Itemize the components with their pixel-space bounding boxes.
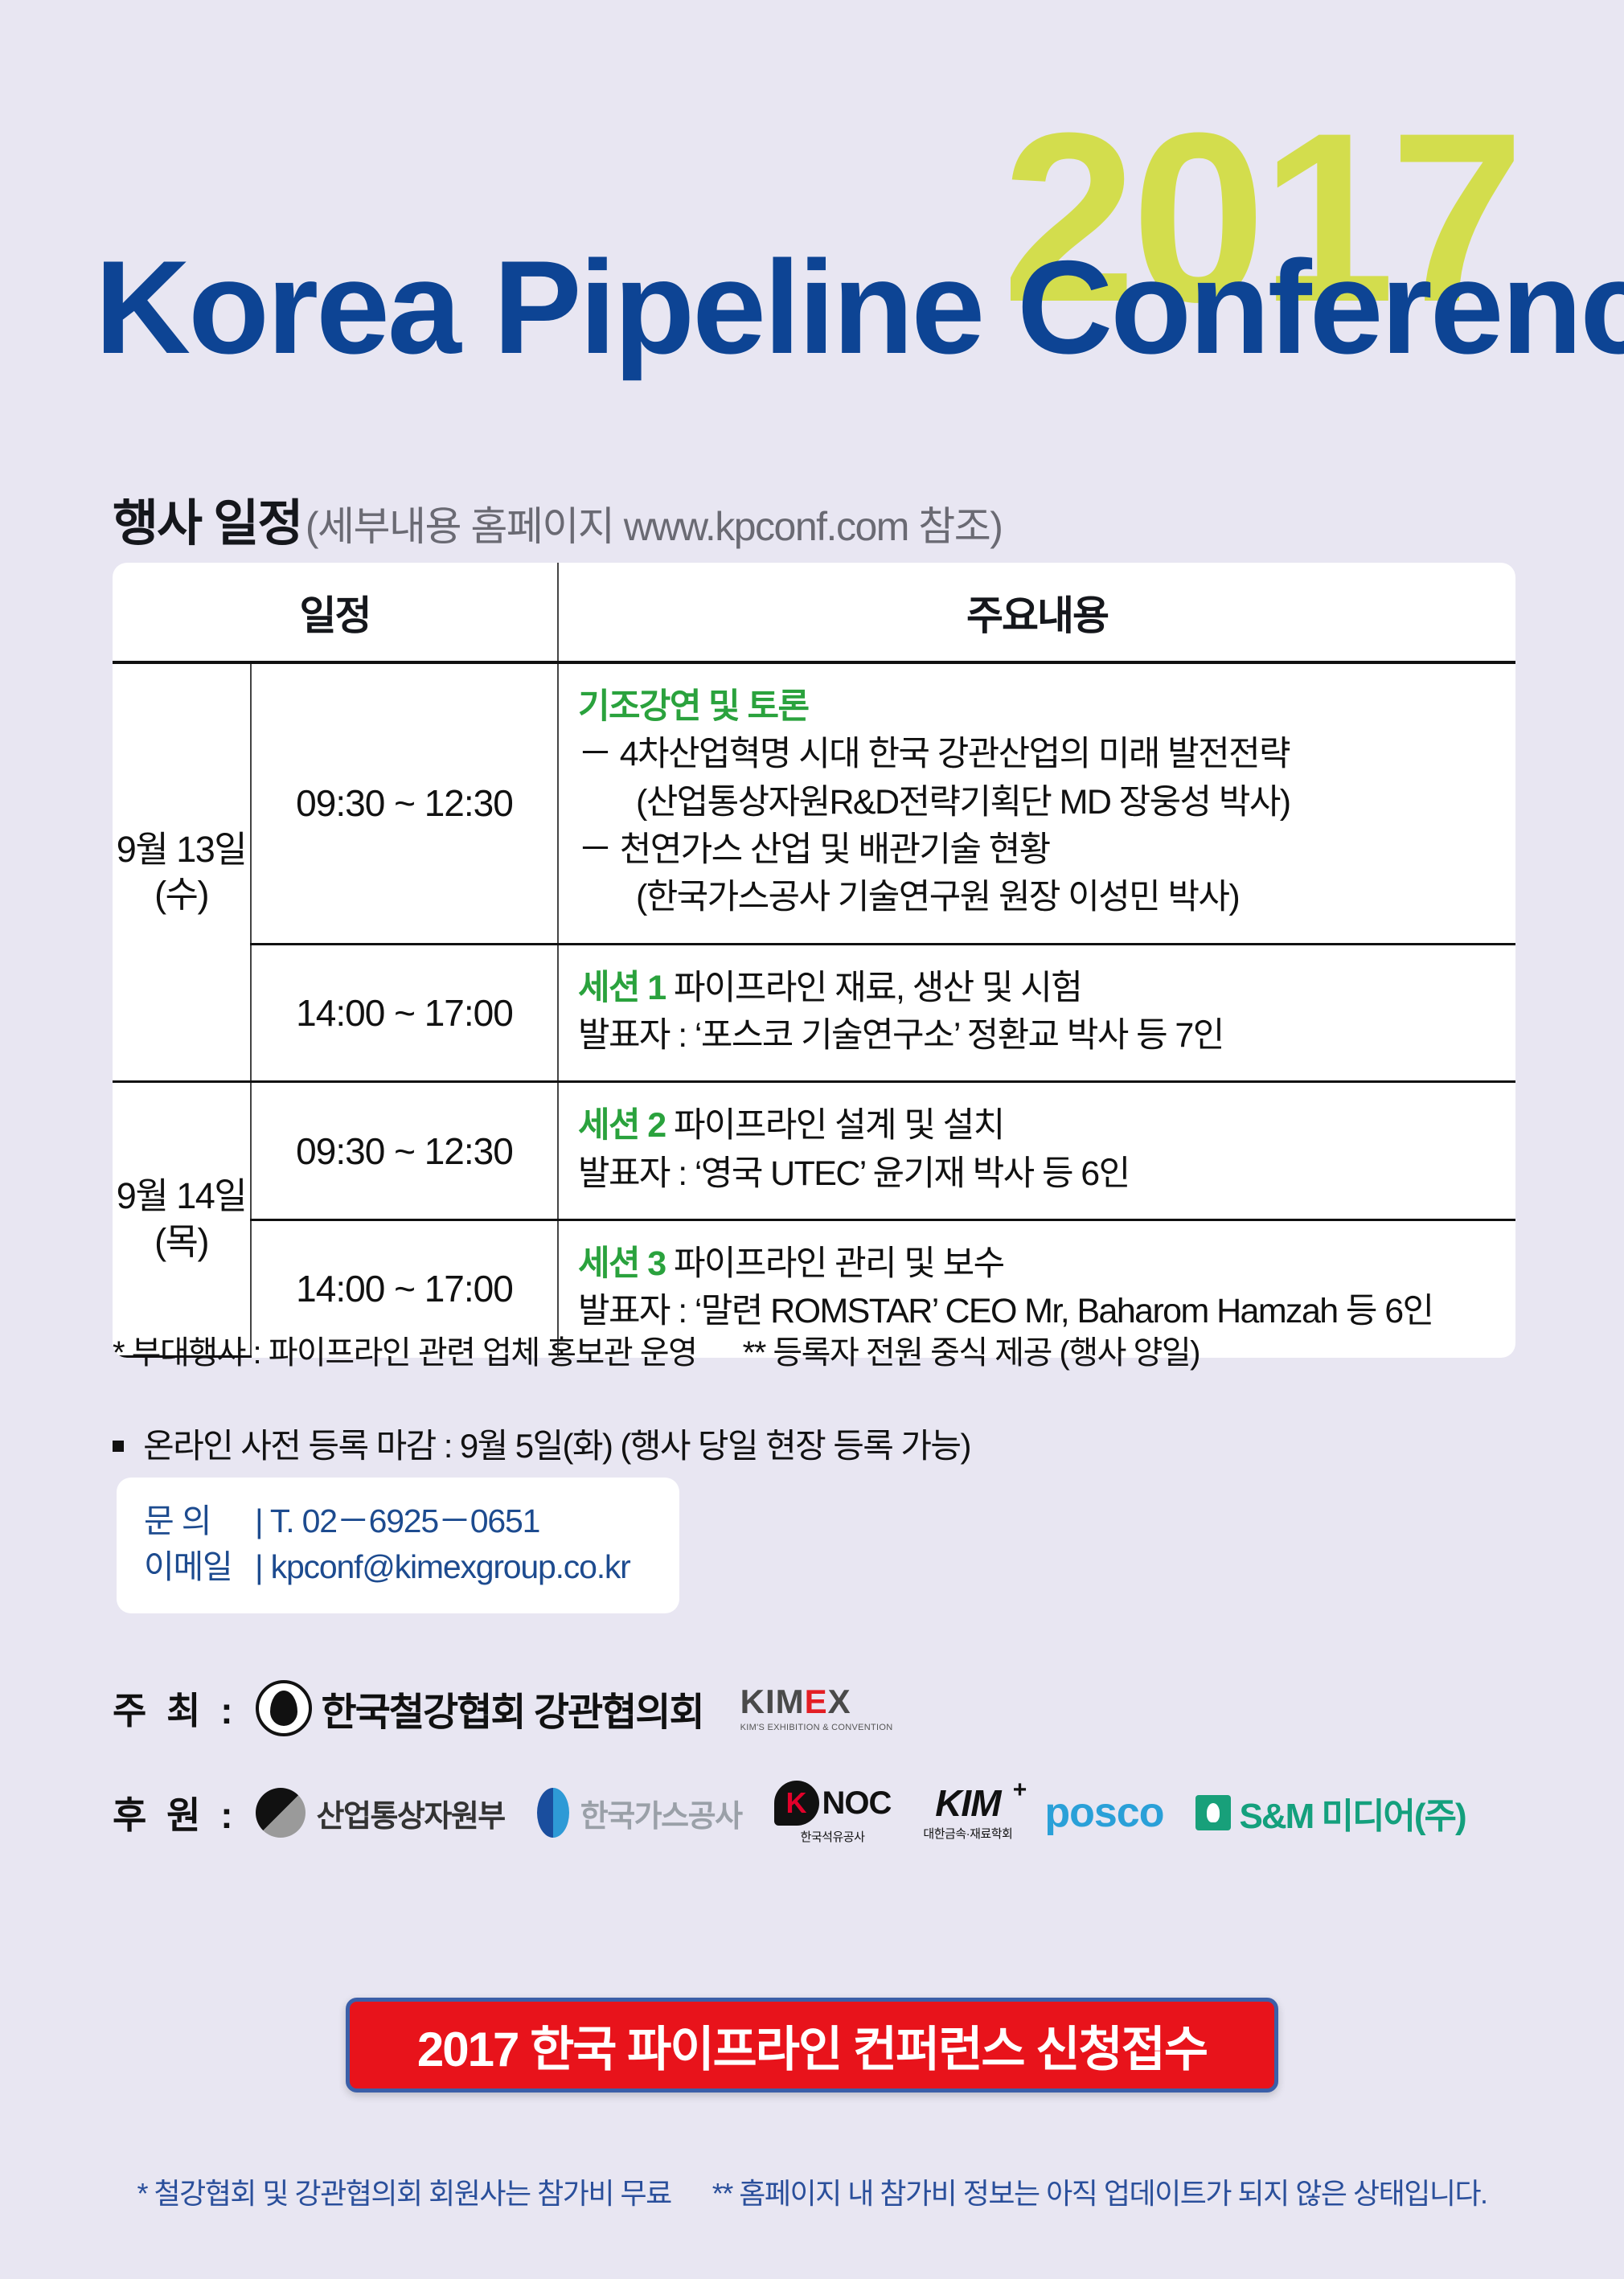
- table-row: 9월 13일 (수) 09:30 ~ 12:30 기조강연 및 토론 － 4차산…: [113, 662, 1515, 944]
- schedule-table-wrapper: 일정 주요내용 9월 13일 (수) 09:30 ~ 12:30 기조강연 및 …: [113, 563, 1515, 1358]
- footer-notes: * 철강협회 및 강관협의회 회원사는 참가비 무료 ** 홈페이지 내 참가비…: [0, 2170, 1624, 2212]
- cell-content-session1: 세션 1 파이프라인 재료, 생산 및 시험 발표자 : ‘포스코 기술연구소’…: [558, 944, 1515, 1082]
- conference-title: Korea Pipeline Conference: [95, 241, 1566, 374]
- sponsor-name-posco: posco: [1044, 1789, 1163, 1837]
- kosa-seal-inner-icon: [270, 1691, 297, 1726]
- cell-time-1400-1700-day1: 14:00 ~ 17:00: [251, 944, 558, 1082]
- kimex-kim: KIM: [740, 1683, 805, 1720]
- kosa-seal-icon: [256, 1680, 312, 1736]
- sponsor-logo-posco: posco: [1044, 1789, 1163, 1837]
- sponsor-logo-snm: S&M 미디어(주): [1195, 1787, 1465, 1838]
- sponsor-logo-kogas: 한국가스공사: [537, 1788, 742, 1838]
- schedule-heading-sub: (세부내용 홈페이지 www.kpconf.com 참조): [306, 504, 1003, 549]
- sponsor-name-snm: S&M 미디어(주): [1239, 1787, 1465, 1838]
- schedule-heading-strong: 행사 일정: [113, 496, 301, 551]
- session1-subject: 파이프라인 재료, 생산 및 시험: [674, 969, 1081, 1007]
- session-tag-2: 세션 2: [578, 1106, 666, 1145]
- cell-content-keynote: 기조강연 및 토론 － 4차산업혁명 시대 한국 강관산업의 미래 발전전략 (…: [558, 662, 1515, 944]
- snm-mark-icon: [1195, 1795, 1231, 1830]
- sponsor-logo-motie: 산업통상자원부: [256, 1788, 505, 1838]
- kim-plus-icon: +: [1013, 1777, 1027, 1804]
- poster-header: 2017 Korea Pipeline Conference: [0, 96, 1624, 370]
- date-line-2: (목): [113, 1219, 250, 1265]
- side-events-note: * 부대행사 : 파이프라인 관련 업체 홍보관 운영 ** 등록자 전원 중식…: [113, 1326, 1200, 1373]
- sponsor-name-knoc: NOC: [822, 1785, 892, 1822]
- knoc-korean-name: 한국석유공사: [801, 1828, 865, 1845]
- sponsor-name-motie: 산업통상자원부: [317, 1791, 505, 1835]
- cell-date-sep13: 9월 13일 (수): [113, 662, 251, 1082]
- registration-cta-button[interactable]: 2017 한국 파이프라인 컨퍼런스 신청접수: [346, 1998, 1278, 2092]
- session2-subject: 파이프라인 설계 및 설치: [674, 1106, 1004, 1145]
- session2-presenter: 발표자 : ‘영국 UTEC’ 윤기재 박사 등 6인: [578, 1150, 1507, 1198]
- contact-box: 문 의| T. 02－6925－0651 이메일| kpconf@kimexgr…: [117, 1478, 679, 1613]
- registration-cta-label: 2017 한국 파이프라인 컨퍼런스 신청접수: [417, 2011, 1207, 2080]
- footer-note-2: ** 홈페이지 내 참가비 정보는 아직 업데이트가 되지 않은 상태입니다.: [712, 2177, 1487, 2210]
- session1-presenter: 발표자 : ‘포스코 기술연구소’ 정환교 박사 등 7인: [578, 1012, 1507, 1060]
- cell-time-0930-1230-day1: 09:30 ~ 12:30: [251, 662, 558, 944]
- session1-title-line: 세션 1 파이프라인 재료, 생산 및 시험: [578, 965, 1507, 1012]
- kimex-x: X: [828, 1683, 851, 1720]
- contact-phone-label: 문 의: [144, 1498, 255, 1544]
- kim-korean-name: 대한금속·재료학회: [923, 1825, 1012, 1842]
- kimex-wordmark: KIMEX: [740, 1685, 851, 1719]
- date-line-1: 9월 13일: [113, 827, 250, 872]
- knoc-k-icon: K: [774, 1781, 819, 1826]
- keynote-line-3: － 천연가스 산업 및 배관기술 현황: [578, 826, 1507, 874]
- sponsor-label: 후 원 :: [113, 1786, 238, 1839]
- footer-note-1: * 철강협회 및 강관협의회 회원사는 참가비 무료: [137, 2177, 671, 2210]
- cell-content-session2: 세션 2 파이프라인 설계 및 설치 발표자 : ‘영국 UTEC’ 윤기재 박…: [558, 1082, 1515, 1220]
- schedule-heading: 행사 일정 (세부내용 홈페이지 www.kpconf.com 참조): [113, 482, 1002, 555]
- note-side-events: * 부대행사 : 파이프라인 관련 업체 홍보관 운영: [113, 1335, 696, 1371]
- kim-wordmark: KIM: [935, 1785, 1000, 1822]
- column-header-content: 주요내용: [558, 563, 1515, 662]
- table-row: 9월 14일 (목) 09:30 ~ 12:30 세션 2 파이프라인 설계 및…: [113, 1082, 1515, 1220]
- note-lunch: ** 등록자 전원 중식 제공 (행사 양일): [743, 1335, 1200, 1371]
- kimex-logo: KIMEX KIM'S EXHIBITION & CONVENTION: [740, 1685, 893, 1732]
- knoc-wordmark: K NOC: [774, 1781, 892, 1826]
- column-header-schedule: 일정: [113, 563, 558, 662]
- contact-sep-1: |: [255, 1502, 262, 1539]
- session3-subject: 파이프라인 관리 및 보수: [674, 1244, 1004, 1283]
- sponsor-row: 후 원 : 산업통상자원부 한국가스공사 K NOC 한국석유공사 KIM + …: [113, 1781, 1498, 1845]
- registration-deadline: 온라인 사전 등록 마감 : 9월 5일(화) (행사 당일 현장 등록 가능): [113, 1419, 970, 1468]
- poster-root: 2017 Korea Pipeline Conference 행사 일정 (세부…: [0, 0, 1624, 2279]
- session3-title-line: 세션 3 파이프라인 관리 및 보수: [578, 1240, 1507, 1288]
- contact-email-line: 이메일| kpconf@kimexgroup.co.kr: [144, 1544, 652, 1590]
- table-header-row: 일정 주요내용: [113, 563, 1515, 662]
- session-tag-1: 세션 1: [578, 969, 666, 1007]
- registration-deadline-text: 온라인 사전 등록 마감 : 9월 5일(화) (행사 당일 현장 등록 가능): [143, 1427, 970, 1465]
- keynote-line-1: － 4차산업혁명 시대 한국 강관산업의 미래 발전전략: [578, 731, 1507, 778]
- session-tag-keynote: 기조강연 및 토론: [578, 683, 1507, 731]
- session-tag-3: 세션 3: [578, 1244, 666, 1283]
- cell-date-sep14: 9월 14일 (목): [113, 1082, 251, 1357]
- sponsor-name-kogas: 한국가스공사: [580, 1791, 742, 1835]
- cell-time-0930-1230-day2: 09:30 ~ 12:30: [251, 1082, 558, 1220]
- sponsor-logo-knoc: K NOC 한국석유공사: [774, 1781, 892, 1845]
- kogas-mark-icon: [537, 1788, 569, 1838]
- kimex-tagline: KIM'S EXHIBITION & CONVENTION: [740, 1723, 893, 1732]
- keynote-line-4: (한국가스공사 기술연구원 원장 이성민 박사): [578, 874, 1507, 921]
- table-row: 14:00 ~ 17:00 세션 1 파이프라인 재료, 생산 및 시험 발표자…: [113, 944, 1515, 1082]
- organizer-row: 주 최 : 한국철강협회 강관협의회 KIMEX KIM'S EXHIBITIO…: [113, 1680, 893, 1736]
- schedule-table: 일정 주요내용 9월 13일 (수) 09:30 ~ 12:30 기조강연 및 …: [113, 563, 1515, 1358]
- contact-email-label: 이메일: [144, 1544, 255, 1590]
- organizer-kosa-name: 한국철강협회 강관협의회: [322, 1680, 703, 1736]
- organizer-label: 주 최 :: [113, 1682, 238, 1735]
- kimex-e: E: [805, 1683, 828, 1720]
- contact-phone-line: 문 의| T. 02－6925－0651: [144, 1498, 652, 1544]
- date-line-2: (수): [113, 872, 250, 917]
- contact-phone-value[interactable]: T. 02－6925－0651: [270, 1502, 539, 1539]
- contact-email-value[interactable]: kpconf@kimexgroup.co.kr: [271, 1548, 630, 1585]
- date-line-1: 9월 14일: [113, 1174, 250, 1219]
- session2-title-line: 세션 2 파이프라인 설계 및 설치: [578, 1102, 1507, 1150]
- taegeuk-icon: [256, 1788, 306, 1838]
- square-bullet-icon: [113, 1441, 124, 1452]
- contact-sep-2: |: [255, 1548, 262, 1585]
- keynote-line-2: (산업통상자원R&D전략기획단 MD 장웅성 박사): [578, 779, 1507, 826]
- sponsor-logo-kim: KIM + 대한금속·재료학회: [923, 1785, 1012, 1842]
